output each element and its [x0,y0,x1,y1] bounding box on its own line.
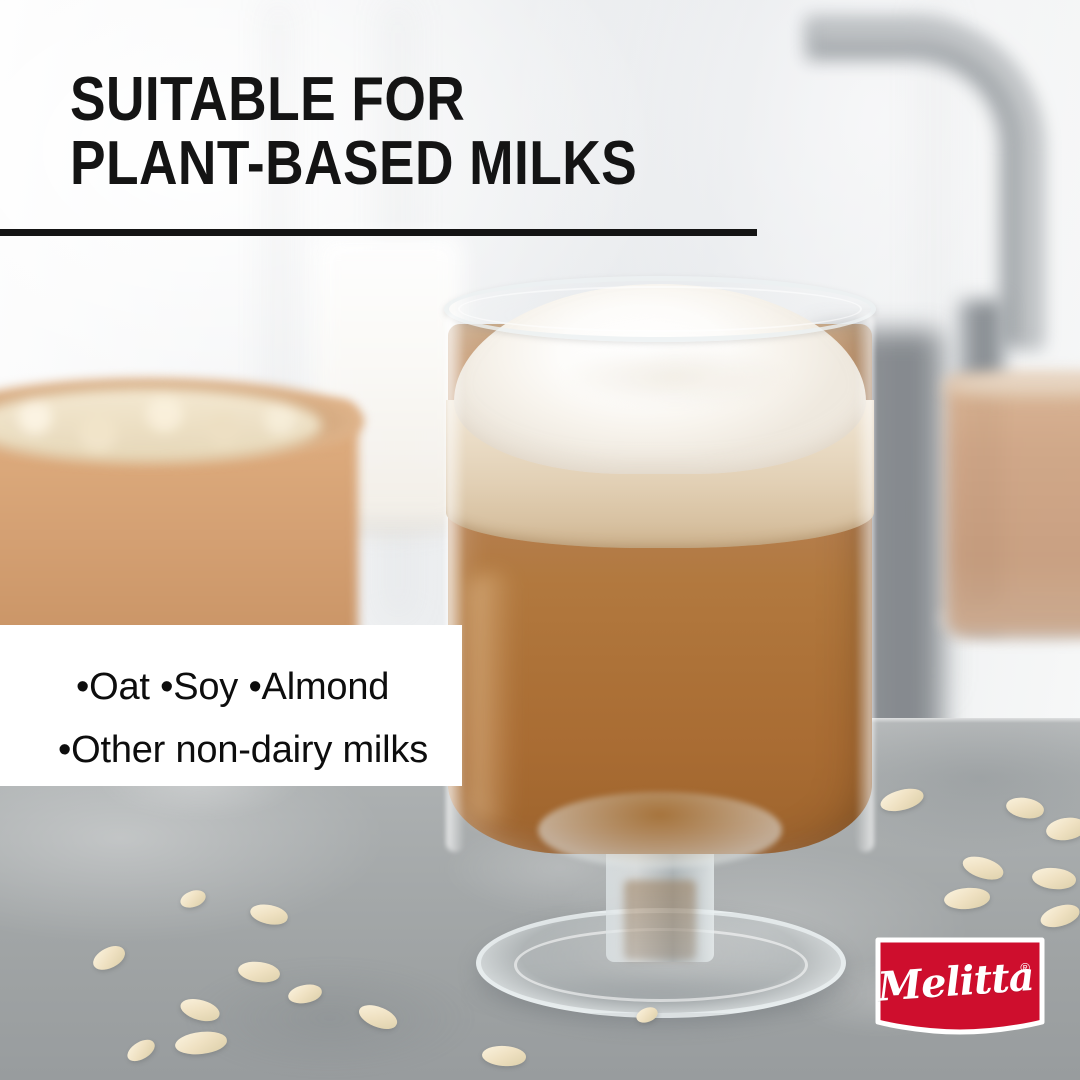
glass-bowl-base [538,792,782,868]
coffee-highlight [470,572,516,822]
milk-types-row-secondary: •Other non-dairy milks [0,729,462,772]
glass-rim-inner [458,286,862,332]
milk-types-row-primary: •Oat •Soy •Almond [0,666,462,709]
hero-latte-glass [410,272,910,962]
registered-trademark-icon: ® [1020,960,1030,975]
melitta-brand-text: Melitta [876,952,1035,1010]
promo-canvas: SUITABLE FOR PLANT-BASED MILKS •Oat •Soy… [0,0,1080,1080]
title-divider-rule [0,229,757,236]
foam-swirl [560,346,790,408]
melitta-wordmark: Melitta [874,936,1046,1036]
glass-wall-highlight-right [856,312,874,852]
glass-stem-refraction [624,880,696,960]
background-coffee-glass [946,378,1080,636]
page-title: SUITABLE FOR PLANT-BASED MILKS [70,68,775,196]
milk-types-panel: •Oat •Soy •Almond •Other non-dairy milks [0,625,462,786]
melitta-logo[interactable]: Melitta ® [874,936,1046,1036]
